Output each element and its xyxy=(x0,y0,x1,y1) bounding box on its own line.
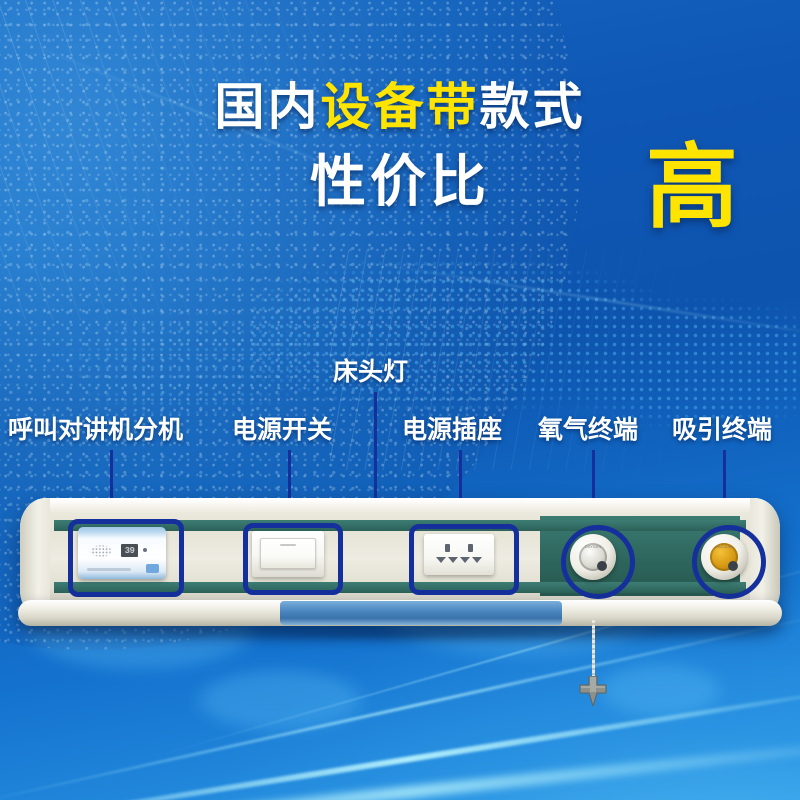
panel-top-highlight xyxy=(20,498,780,514)
light-swoosh-glow xyxy=(0,731,800,800)
light-swoosh-one xyxy=(0,678,800,800)
highlight-ring-oxygen-terminal xyxy=(561,525,635,599)
pull-cord-handle-icon[interactable] xyxy=(577,676,609,706)
highlight-ring-suction-terminal xyxy=(692,525,766,599)
panel-drop-shadow xyxy=(60,626,750,642)
headline-text-equipment-belt: 设备带 xyxy=(321,79,480,135)
headline-accent-word: 高 xyxy=(646,142,738,234)
highlight-box-power-switch xyxy=(243,523,343,595)
highlight-box-power-socket xyxy=(409,524,519,595)
bedside-lamp-pull-cord[interactable] xyxy=(592,620,595,684)
callout-label-power-socket: 电源插座 xyxy=(402,418,502,443)
callout-label-oxygen-terminal: 氧气终端 xyxy=(538,418,638,443)
halftone-dots-left xyxy=(40,300,340,430)
light-swoosh-upper xyxy=(304,252,800,351)
halftone-world-map-dots xyxy=(250,250,800,440)
callout-label-power-switch: 电源开关 xyxy=(232,418,332,443)
headline-line-1: 国内设备带款式 xyxy=(0,82,800,132)
callout-label-intercom: 呼叫对讲机分机 xyxy=(8,418,183,443)
highlight-box-intercom xyxy=(68,519,184,597)
promo-banner: 国内设备带款式 性价比 高 呼叫对讲机分机 电源开关 床头灯 电源插座 氧气终端… xyxy=(0,0,800,800)
callout-label-suction-terminal: 吸引终端 xyxy=(672,418,772,443)
headline-text-style: 款式 xyxy=(480,79,586,135)
callout-label-bedside-lamp: 床头灯 xyxy=(333,360,408,385)
panel-rail-blue-section xyxy=(280,601,562,625)
headline-text-domestic: 国内 xyxy=(215,79,321,135)
